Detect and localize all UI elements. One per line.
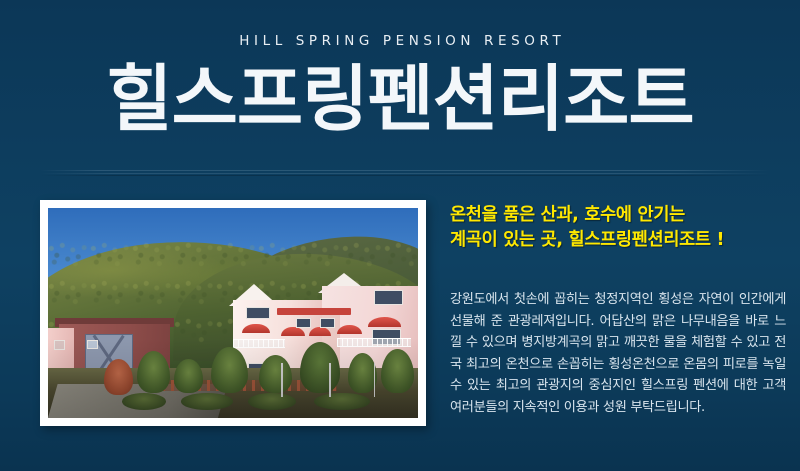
intro-headline: 온천을 품은 산과, 호수에 안기는 계곡이 있는 곳, 힐스프링펜션리조트 ! <box>450 203 786 252</box>
photo-shrub <box>181 393 233 410</box>
photo-lamp-post <box>374 363 376 397</box>
intro-copy-column: 온천을 품은 산과, 호수에 안기는 계곡이 있는 곳, 힐스프링펜션리조트 !… <box>450 203 786 418</box>
photo-balcony-rail <box>337 338 411 347</box>
page-title: 힐스프링펜션리조트 <box>0 56 800 142</box>
photo-shrub <box>314 393 370 410</box>
photo-window <box>246 307 270 320</box>
photo-window <box>87 340 98 348</box>
divider-line-shadow <box>40 175 770 176</box>
intro-headline-line-2: 계곡이 있는 곳, 힐스프링펜션리조트 ! <box>450 228 786 253</box>
resort-photo <box>48 208 418 418</box>
intro-body-text: 강원도에서 첫손에 꼽히는 청정지역인 횡성은 자연이 인간에게 선물해 준 관… <box>450 252 786 418</box>
photo-red-roof-band <box>277 308 351 315</box>
photo-window <box>374 290 404 305</box>
photo-shrub <box>122 393 166 410</box>
brand-eyebrow: HILL SPRING PENSION RESORT <box>0 33 800 49</box>
photo-window <box>54 340 65 349</box>
photo-window <box>296 318 311 327</box>
photo-balcony-rail <box>233 339 285 348</box>
divider-line-mid <box>40 173 770 174</box>
photo-lamp-post <box>329 363 331 397</box>
photo-tree <box>104 359 134 395</box>
header: HILL SPRING PENSION RESORT 힐스프링펜션리조트 <box>0 0 800 172</box>
photo-lamp-post <box>281 363 283 397</box>
photo-shrub <box>248 393 296 410</box>
page-root: HILL SPRING PENSION RESORT 힐스프링펜션리조트 <box>0 0 800 471</box>
photo-tree <box>174 359 204 393</box>
photo-window <box>320 318 335 327</box>
intro-headline-line-1: 온천을 품은 산과, 호수에 안기는 <box>450 205 685 225</box>
resort-photo-frame <box>40 200 426 426</box>
